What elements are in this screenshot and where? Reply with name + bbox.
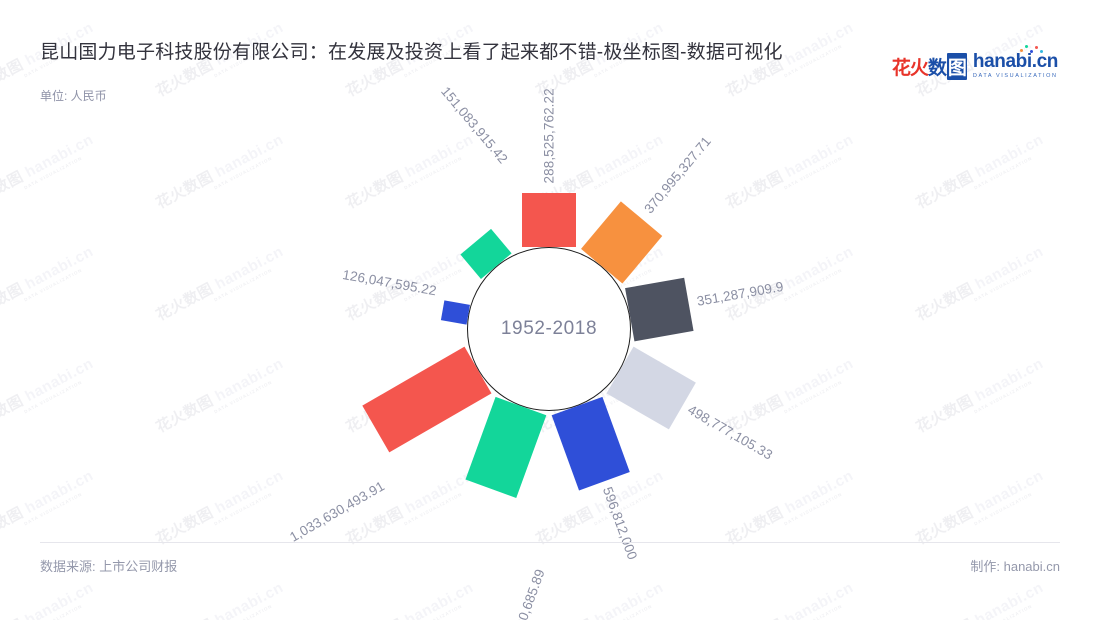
unit-label: 单位: 人民币 [40, 88, 160, 105]
logo-cn-part1: 花火 [892, 53, 928, 80]
bar-value-label: 288,525,762.22 [542, 88, 557, 183]
bar-value-label: 1,033,630,493.91 [287, 478, 387, 544]
bar-value-label: 126,047,595.22 [341, 267, 437, 298]
polar-bar-chart: 1952-2018 288,525,762.22370,995,327.7135… [0, 0, 1100, 620]
logo-en-subtitle: DATA VISUALIZATION [973, 72, 1058, 80]
logo-dots-icon [1020, 45, 1046, 55]
logo-english-mark: hanabi.cn DATA VISUALIZATION [973, 52, 1058, 80]
credit-label: 制作: hanabi.cn [970, 556, 1060, 575]
chart-canvas: 花火数图 hanabi.cnDATA VISUALIZATION花火数图 han… [0, 0, 1100, 620]
polar-bar-segment[interactable] [522, 193, 576, 247]
logo-chinese-mark: 花火 数 图 [892, 53, 967, 80]
logo-cn-part3: 图 [947, 53, 967, 80]
bar-value-label: 351,287,909.9 [695, 279, 784, 309]
bar-value-label: 370,995,327.71 [641, 133, 714, 216]
bar-value-label: 1,890,685.89 [506, 567, 547, 620]
polar-bar-segment[interactable] [552, 397, 630, 491]
footer: 数据来源: 上市公司财报 制作: hanabi.cn [0, 556, 1100, 575]
footer-divider [40, 542, 1060, 543]
hanabi-logo: 花火 数 图 hanabi.cn DATA VISUALIZATION [892, 52, 1058, 80]
bar-value-label: 498,777,105.33 [686, 402, 776, 463]
polar-bar-segment[interactable] [441, 300, 470, 324]
polar-bar-segment[interactable] [362, 347, 491, 453]
chart-center-label: 1952-2018 [467, 318, 631, 340]
bar-value-label: 596,812,000 [600, 485, 640, 562]
bar-value-label: 151,083,915.42 [438, 83, 511, 166]
page-title: 昆山国力电子科技股份有限公司：在发展及投资上看了起来都不错-极坐标图-数据可视化 [40, 38, 840, 68]
polar-bar-segment[interactable] [625, 278, 693, 342]
logo-cn-part2: 数 [928, 53, 946, 80]
polar-bar-segment[interactable] [465, 397, 546, 498]
data-source-label: 数据来源: 上市公司财报 [40, 556, 177, 575]
